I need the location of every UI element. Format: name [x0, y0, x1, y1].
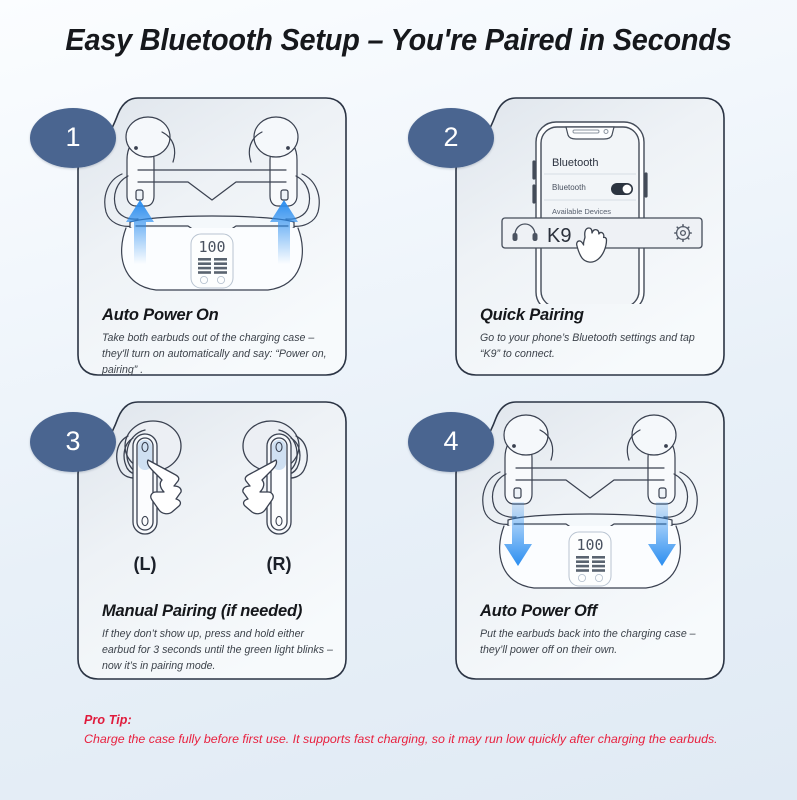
step-card-2: 2	[454, 96, 726, 377]
step-body-3: If they don’t show up, press and hold ei…	[102, 626, 334, 674]
step-heading-1: Auto Power On	[102, 306, 332, 325]
pro-tip-section: Pro Tip: Charge the case fully before fi…	[84, 713, 724, 749]
step-heading-2: Quick Pairing	[480, 306, 710, 325]
bluetooth-toggle-switch	[611, 183, 633, 195]
step-body-4: Put the earbuds back into the charging c…	[480, 626, 712, 658]
step-heading-3: Manual Pairing (if needed)	[102, 602, 332, 621]
label-left-earbud: (L)	[134, 554, 157, 574]
step-card-4: 4	[454, 400, 726, 681]
pro-tip-text: Charge the case fully before first use. …	[84, 730, 724, 749]
step-heading-4: Auto Power Off	[480, 602, 710, 621]
step-card-1: 1	[76, 96, 348, 377]
case-battery-display: 100	[569, 532, 611, 586]
pro-tip-label: Pro Tip:	[84, 713, 724, 727]
svg-text:100: 100	[576, 536, 603, 554]
illustration-press-and-hold-earbuds: (L) (R)	[76, 402, 348, 592]
label-right-earbud: (R)	[267, 554, 292, 574]
step-card-3: 3	[76, 400, 348, 681]
device-name-label: K9	[547, 225, 571, 247]
step-body-2: Go to your phone’s Bluetooth settings an…	[480, 330, 712, 362]
step-body-1: Take both earbuds out of the charging ca…	[102, 330, 334, 378]
infographic-page: Easy Bluetooth Setup – You're Paired in …	[0, 0, 797, 800]
device-row-k9: K9	[502, 218, 702, 262]
illustration-earbuds-into-case: 100	[454, 402, 726, 592]
illustration-earbuds-out-of-case: 100	[76, 104, 348, 294]
phone-section-label: Available Devices	[552, 207, 611, 216]
svg-text:100: 100	[198, 238, 225, 256]
phone-screen-title: Bluetooth	[552, 157, 598, 169]
case-battery-display: 100	[191, 234, 233, 288]
phone-toggle-label: Bluetooth	[552, 183, 586, 192]
page-title: Easy Bluetooth Setup – You're Paired in …	[28, 22, 769, 58]
illustration-phone-bluetooth: Bluetooth Bluetooth Available Devices	[454, 104, 726, 294]
